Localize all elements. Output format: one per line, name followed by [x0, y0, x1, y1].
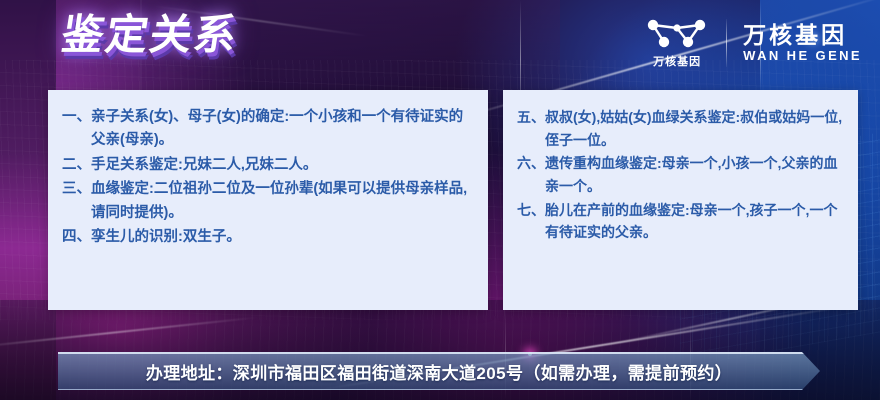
- brand-divider: [726, 19, 727, 67]
- relationship-list-right: 五、 叔叔(女),姑姑(女)血绿关系鉴定:叔伯或姑妈一位,侄子一位。 六、 遗传…: [503, 90, 858, 310]
- list-item-number: 三、: [62, 178, 91, 225]
- brand-mark: 万核基因: [644, 16, 710, 69]
- page-title: 鉴定关系: [59, 14, 242, 56]
- list-item-text: 亲子关系(女)、母子(女)的确定:一个小孩和一个有待证实的父亲(母亲)。: [91, 106, 476, 153]
- brand-name-en: WAN HE GENE: [743, 49, 862, 62]
- list-item-number: 五、: [517, 106, 545, 151]
- list-item-number: 二、: [62, 154, 91, 177]
- address-bar: 办理地址：深圳市福田区福田街道深南大道205号（如需办理，需提前预约）: [58, 352, 820, 390]
- list-item-number: 六、: [517, 152, 545, 197]
- brand-logo: 万核基因 万核基因 WAN HE GENE: [644, 16, 862, 69]
- list-item: 七、 胎儿在产前的血缘鉴定:母亲一个,孩子一个,一个有待证实的父亲。: [517, 199, 846, 244]
- list-item: 五、 叔叔(女),姑姑(女)血绿关系鉴定:叔伯或姑妈一位,侄子一位。: [517, 106, 846, 151]
- list-item: 一、 亲子关系(女)、母子(女)的确定:一个小孩和一个有待证实的父亲(母亲)。: [62, 106, 476, 153]
- brand-name-cn: 万核基因: [743, 23, 847, 47]
- list-item: 二、 手足关系鉴定:兄妹二人,兄妹二人。: [62, 154, 476, 177]
- list-item-text: 叔叔(女),姑姑(女)血绿关系鉴定:叔伯或姑妈一位,侄子一位。: [545, 106, 846, 151]
- list-item-text: 血缘鉴定:二位祖孙二位及一位孙辈(如果可以提供母亲样品,请同时提供)。: [91, 178, 476, 225]
- list-item-text: 手足关系鉴定:兄妹二人,兄妹二人。: [91, 154, 476, 177]
- list-item-number: 一、: [62, 106, 91, 153]
- brand-mark-label: 万核基因: [653, 53, 701, 69]
- address-text: 办理地址：深圳市福田区福田街道深南大道205号（如需办理，需提前预约）: [146, 359, 732, 384]
- list-item-number: 七、: [517, 199, 545, 244]
- list-item-number: 四、: [62, 226, 91, 249]
- list-item-text: 遗传重构血缘鉴定:母亲一个,小孩一个,父亲的血亲一个。: [545, 152, 846, 197]
- list-item: 六、 遗传重构血缘鉴定:母亲一个,小孩一个,父亲的血亲一个。: [517, 152, 846, 197]
- list-item-text: 孪生儿的识别:双生子。: [91, 226, 476, 249]
- brand-name-block: 万核基因 WAN HE GENE: [743, 23, 862, 62]
- list-item: 三、 血缘鉴定:二位祖孙二位及一位孙辈(如果可以提供母亲样品,请同时提供)。: [62, 178, 476, 225]
- poster-canvas: 鉴定关系 万核基因 万核基因: [0, 0, 880, 400]
- molecule-node-icon: [644, 16, 710, 50]
- relationship-list-left: 一、 亲子关系(女)、母子(女)的确定:一个小孩和一个有待证实的父亲(母亲)。 …: [48, 90, 488, 310]
- list-item: 四、 孪生儿的识别:双生子。: [62, 226, 476, 249]
- list-item-text: 胎儿在产前的血缘鉴定:母亲一个,孩子一个,一个有待证实的父亲。: [545, 199, 846, 244]
